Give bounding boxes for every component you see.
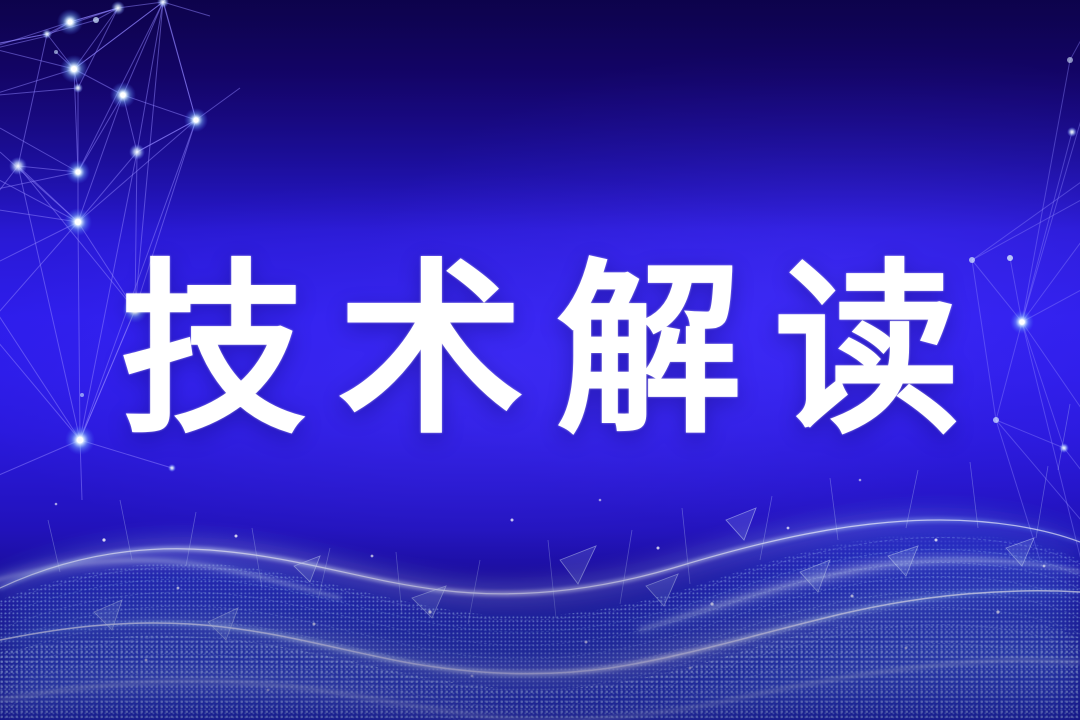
background-vignette-top — [0, 0, 1080, 230]
background-vignette-bottom — [0, 530, 1080, 720]
title-container: 技术解读 — [0, 243, 1080, 458]
page-title: 技术解读 — [88, 258, 992, 444]
technology-banner: 技术解读 — [0, 0, 1080, 720]
